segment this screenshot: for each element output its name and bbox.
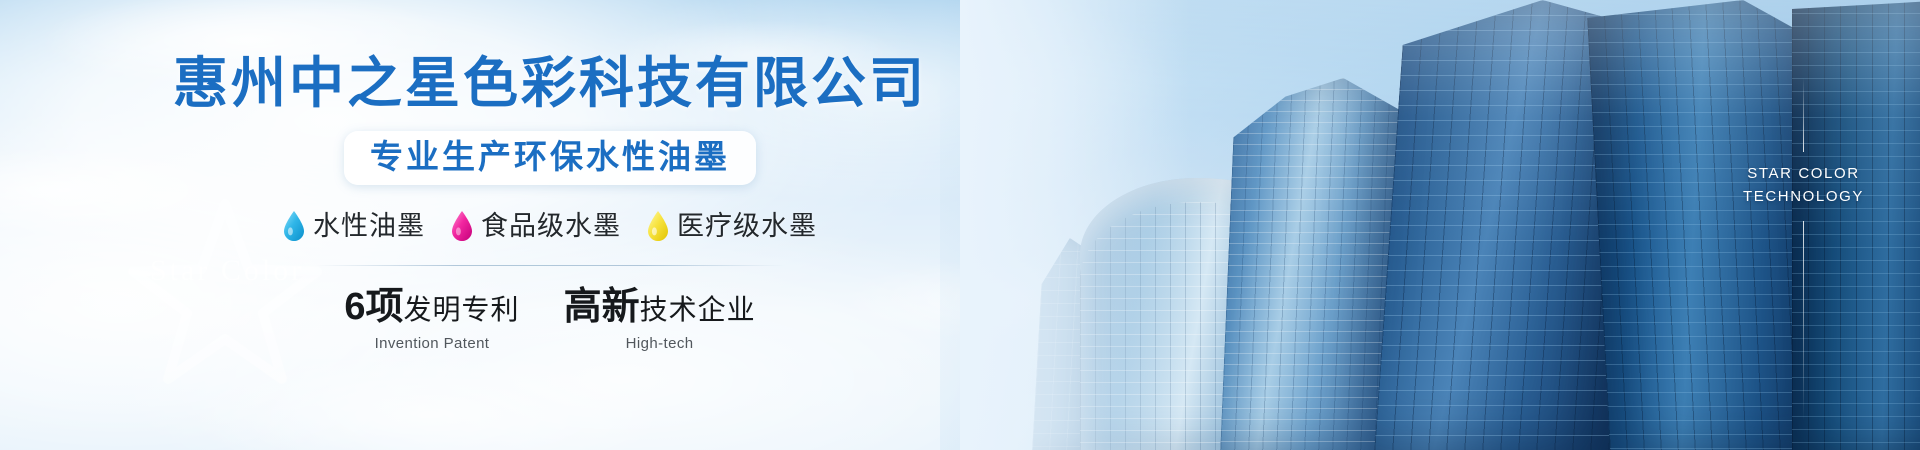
badge-highlight: 高新 — [564, 286, 640, 328]
banner-content: 惠州中之星色彩科技有限公司 专业生产环保水性油墨 — [0, 0, 1100, 450]
brand-mark: STAR COLOR TECHNOLOGY — [1743, 78, 1864, 421]
badge-highlight: 6项 — [344, 286, 403, 328]
brand-mark-line-1: STAR COLOR — [1743, 162, 1864, 185]
promo-banner: Star Color STAR COLOR TECHNOLOGY 惠州中之星色彩… — [0, 0, 1920, 450]
water-drop-icon — [283, 211, 305, 241]
brand-mark-rule-bottom — [1803, 221, 1804, 421]
credential-badge-list: 6项发明专利 Invention Patent 高新技术企业 High-tech — [344, 288, 755, 352]
feature-item-medical-grade-ink: 医疗级水墨 — [647, 211, 817, 241]
water-drop-icon — [451, 211, 473, 241]
badge-english-text: Invention Patent — [344, 335, 519, 352]
section-divider — [315, 265, 785, 266]
subtitle-pill: 专业生产环保水性油墨 — [344, 131, 756, 185]
subtitle-text: 专业生产环保水性油墨 — [370, 140, 730, 173]
badge-chinese-text: 高新技术企业 — [564, 288, 756, 326]
badge-invention-patent: 6项发明专利 Invention Patent — [344, 288, 519, 352]
feature-label: 水性油墨 — [313, 213, 425, 240]
feature-item-food-grade-ink: 食品级水墨 — [451, 211, 621, 241]
badge-detail: 发明专利 — [404, 294, 520, 325]
brand-mark-line-2: TECHNOLOGY — [1743, 185, 1864, 208]
water-drop-icon — [647, 211, 669, 241]
product-feature-list: 水性油墨 — [283, 211, 817, 241]
feature-label: 食品级水墨 — [481, 213, 621, 240]
feature-item-water-based-ink: 水性油墨 — [283, 211, 425, 241]
feature-label: 医疗级水墨 — [677, 213, 817, 240]
brand-mark-rule-top — [1803, 78, 1804, 152]
company-name-heading: 惠州中之星色彩科技有限公司 — [173, 56, 927, 111]
building-glass-tower — [1220, 78, 1404, 450]
badge-chinese-text: 6项发明专利 — [344, 288, 519, 326]
badge-english-text: High-tech — [564, 335, 756, 352]
badge-detail: 技术企业 — [640, 294, 756, 325]
badge-high-tech: 高新技术企业 High-tech — [564, 288, 756, 352]
